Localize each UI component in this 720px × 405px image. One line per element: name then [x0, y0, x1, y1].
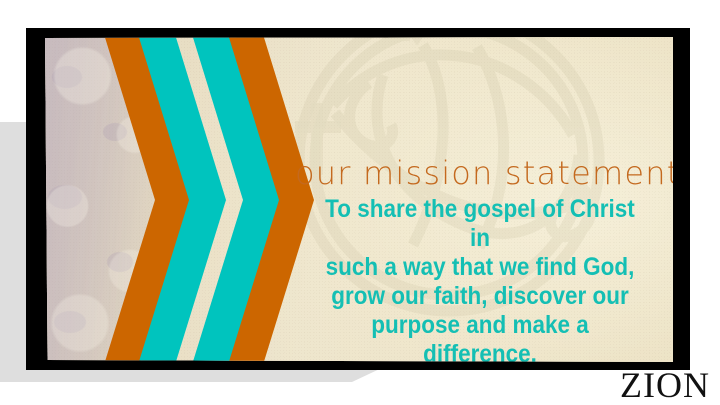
- page-title: our mission statement: [295, 157, 665, 189]
- statement-line: such a way that we find God,: [314, 253, 647, 282]
- statement-line: purpose and make a difference.: [314, 311, 647, 362]
- statement-line: To share the gospel of Christ in: [314, 195, 647, 253]
- banner-screenshot: TRINITY our mission statement To share t…: [0, 0, 720, 405]
- damask-floral-motif: [45, 37, 170, 362]
- mission-statement-text: To share the gospel of Christ in such a …: [314, 195, 647, 362]
- mission-copy-block: our mission statement To share the gospe…: [295, 157, 665, 362]
- statement-line: grow our faith, discover our: [314, 282, 647, 311]
- zion-wordmark: ZION: [620, 367, 710, 403]
- mission-statement-banner: TRINITY our mission statement To share t…: [45, 37, 673, 362]
